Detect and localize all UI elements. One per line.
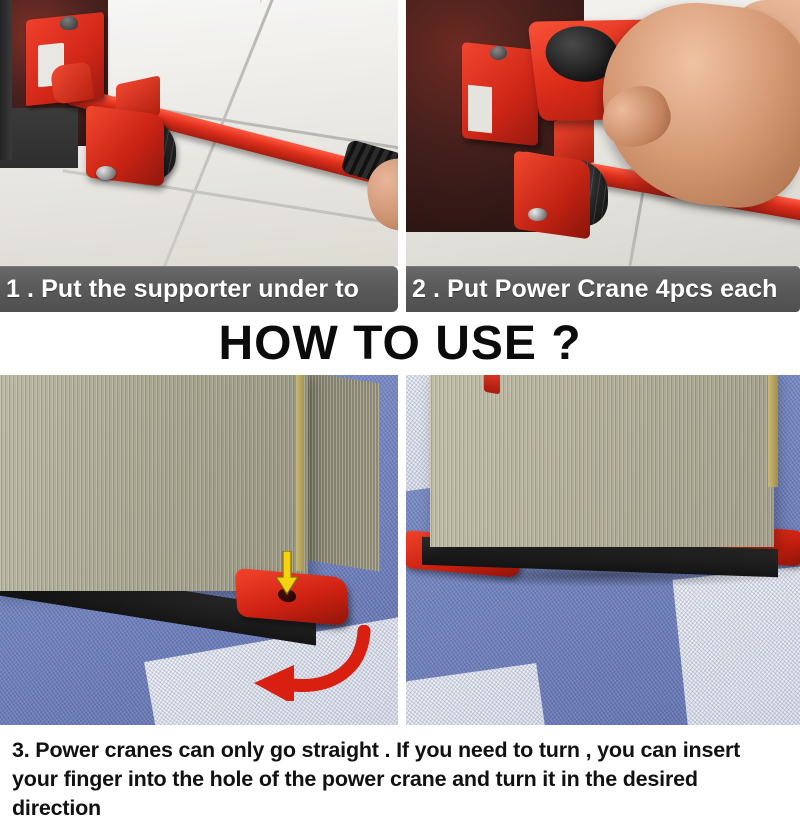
infographic-sheet: 1 . Put the supporter under to 2 . Put P… (0, 0, 800, 800)
axle-bolt (528, 208, 547, 221)
bracket-notch (468, 85, 492, 134)
cabinet-front (430, 375, 774, 547)
step-2-caption-text: 2 . Put Power Crane 4pcs each (406, 275, 778, 304)
step-4-photo (406, 375, 800, 725)
step-3-instruction-text: 3. Power cranes can only go straight . I… (12, 736, 788, 822)
page-title: HOW TO USE ? (0, 314, 800, 372)
cabinet-grain-accent (484, 375, 500, 394)
cabinet-side-panel (300, 375, 380, 572)
white-carpet-tile (673, 563, 800, 725)
axle-bolt (96, 166, 116, 180)
cabinet-edge-band (296, 375, 304, 571)
lever-elbow (50, 61, 95, 104)
step-2-photo (406, 0, 800, 266)
bracket-bolt (60, 16, 78, 30)
step-1-caption-text: 1 . Put the supporter under to (0, 275, 359, 304)
bracket-bolt (490, 46, 507, 60)
step-3-photo (0, 375, 398, 725)
wall-skirting (0, 0, 12, 160)
rotate-direction-arrow-icon (236, 625, 376, 701)
step-1-photo (0, 0, 398, 266)
wheel-housing (514, 151, 590, 240)
step-2-caption-bar: 2 . Put Power Crane 4pcs each (406, 266, 800, 312)
cabinet-edge-band (768, 375, 778, 487)
cabinet-front (0, 375, 308, 591)
insert-finger-arrow-icon (275, 551, 299, 595)
step-1-caption-bar: 1 . Put the supporter under to (0, 266, 398, 312)
